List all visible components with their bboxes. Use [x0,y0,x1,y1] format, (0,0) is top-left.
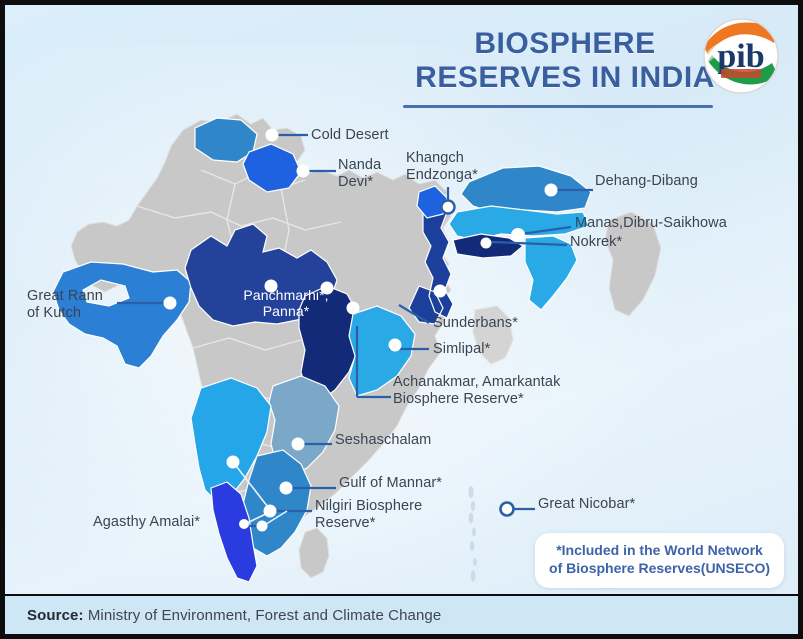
page-title: BIOSPHERE RESERVES IN INDIA [405,27,725,94]
source-bar: Source: Ministry of Environment, Forest … [5,594,798,634]
label-cold-desert[interactable]: Cold Desert [311,127,389,144]
label-nanda-devi[interactable]: Nanda Devi* [338,157,381,191]
infographic-frame: BIOSPHERE RESERVES IN INDIA pib [0,0,803,639]
label-agasthy-amalai[interactable]: Agasthy Amalai* [93,514,200,531]
source-text: Source: Ministry of Environment, Forest … [5,607,441,624]
pib-logo: pib [702,17,780,95]
unesco-legend-note: *Included in the World Network of Biosph… [535,533,784,588]
region-nokrek[interactable] [453,234,523,258]
region-dehang-dibang[interactable] [461,166,591,214]
source-label: Source: [27,607,84,624]
sri-lanka-landmass [299,528,329,578]
title-underline [403,105,713,108]
label-sunderbans[interactable]: Sunderbans* [433,315,518,332]
label-manas-dibru[interactable]: Manas,Dibru-Saikhowa [575,215,727,232]
label-gulf-of-mannar[interactable]: Gulf of Mannar* [339,475,442,492]
title-line-2: RESERVES IN INDIA [405,61,725,95]
label-khangch-endzonga[interactable]: Khangch Endzonga* [406,150,478,184]
label-great-rann[interactable]: Great Rann of Kutch [27,288,103,322]
andaman-nicobar-islands [468,486,477,582]
label-nilgiri[interactable]: Nilgiri Biosphere Reserve* [315,498,422,532]
label-simlipal[interactable]: Simlipal* [433,341,490,358]
label-great-nicobar[interactable]: Great Nicobar* [538,496,635,513]
title-line-1: BIOSPHERE [405,27,725,61]
region-manas-dibru-saikhowa[interactable] [449,206,589,240]
legend-line-2: of Biosphere Reserves(UNSECO) [549,560,770,578]
region-gulf-of-mannar[interactable] [243,450,311,556]
label-achanakmar[interactable]: Achanakmar, Amarkantak Biosphere Reserve… [393,374,560,408]
label-dehang-dibang[interactable]: Dehang-Dibang [595,173,698,190]
label-nokrek[interactable]: Nokrek* [570,234,622,251]
label-seshaschalam[interactable]: Seshaschalam [335,432,431,449]
legend-line-1: *Included in the World Network [549,542,770,560]
label-panchmarhi-panna[interactable]: Panchmarhi*, Panna* [221,287,351,319]
source-value: Ministry of Environment, Forest and Clim… [84,607,442,624]
